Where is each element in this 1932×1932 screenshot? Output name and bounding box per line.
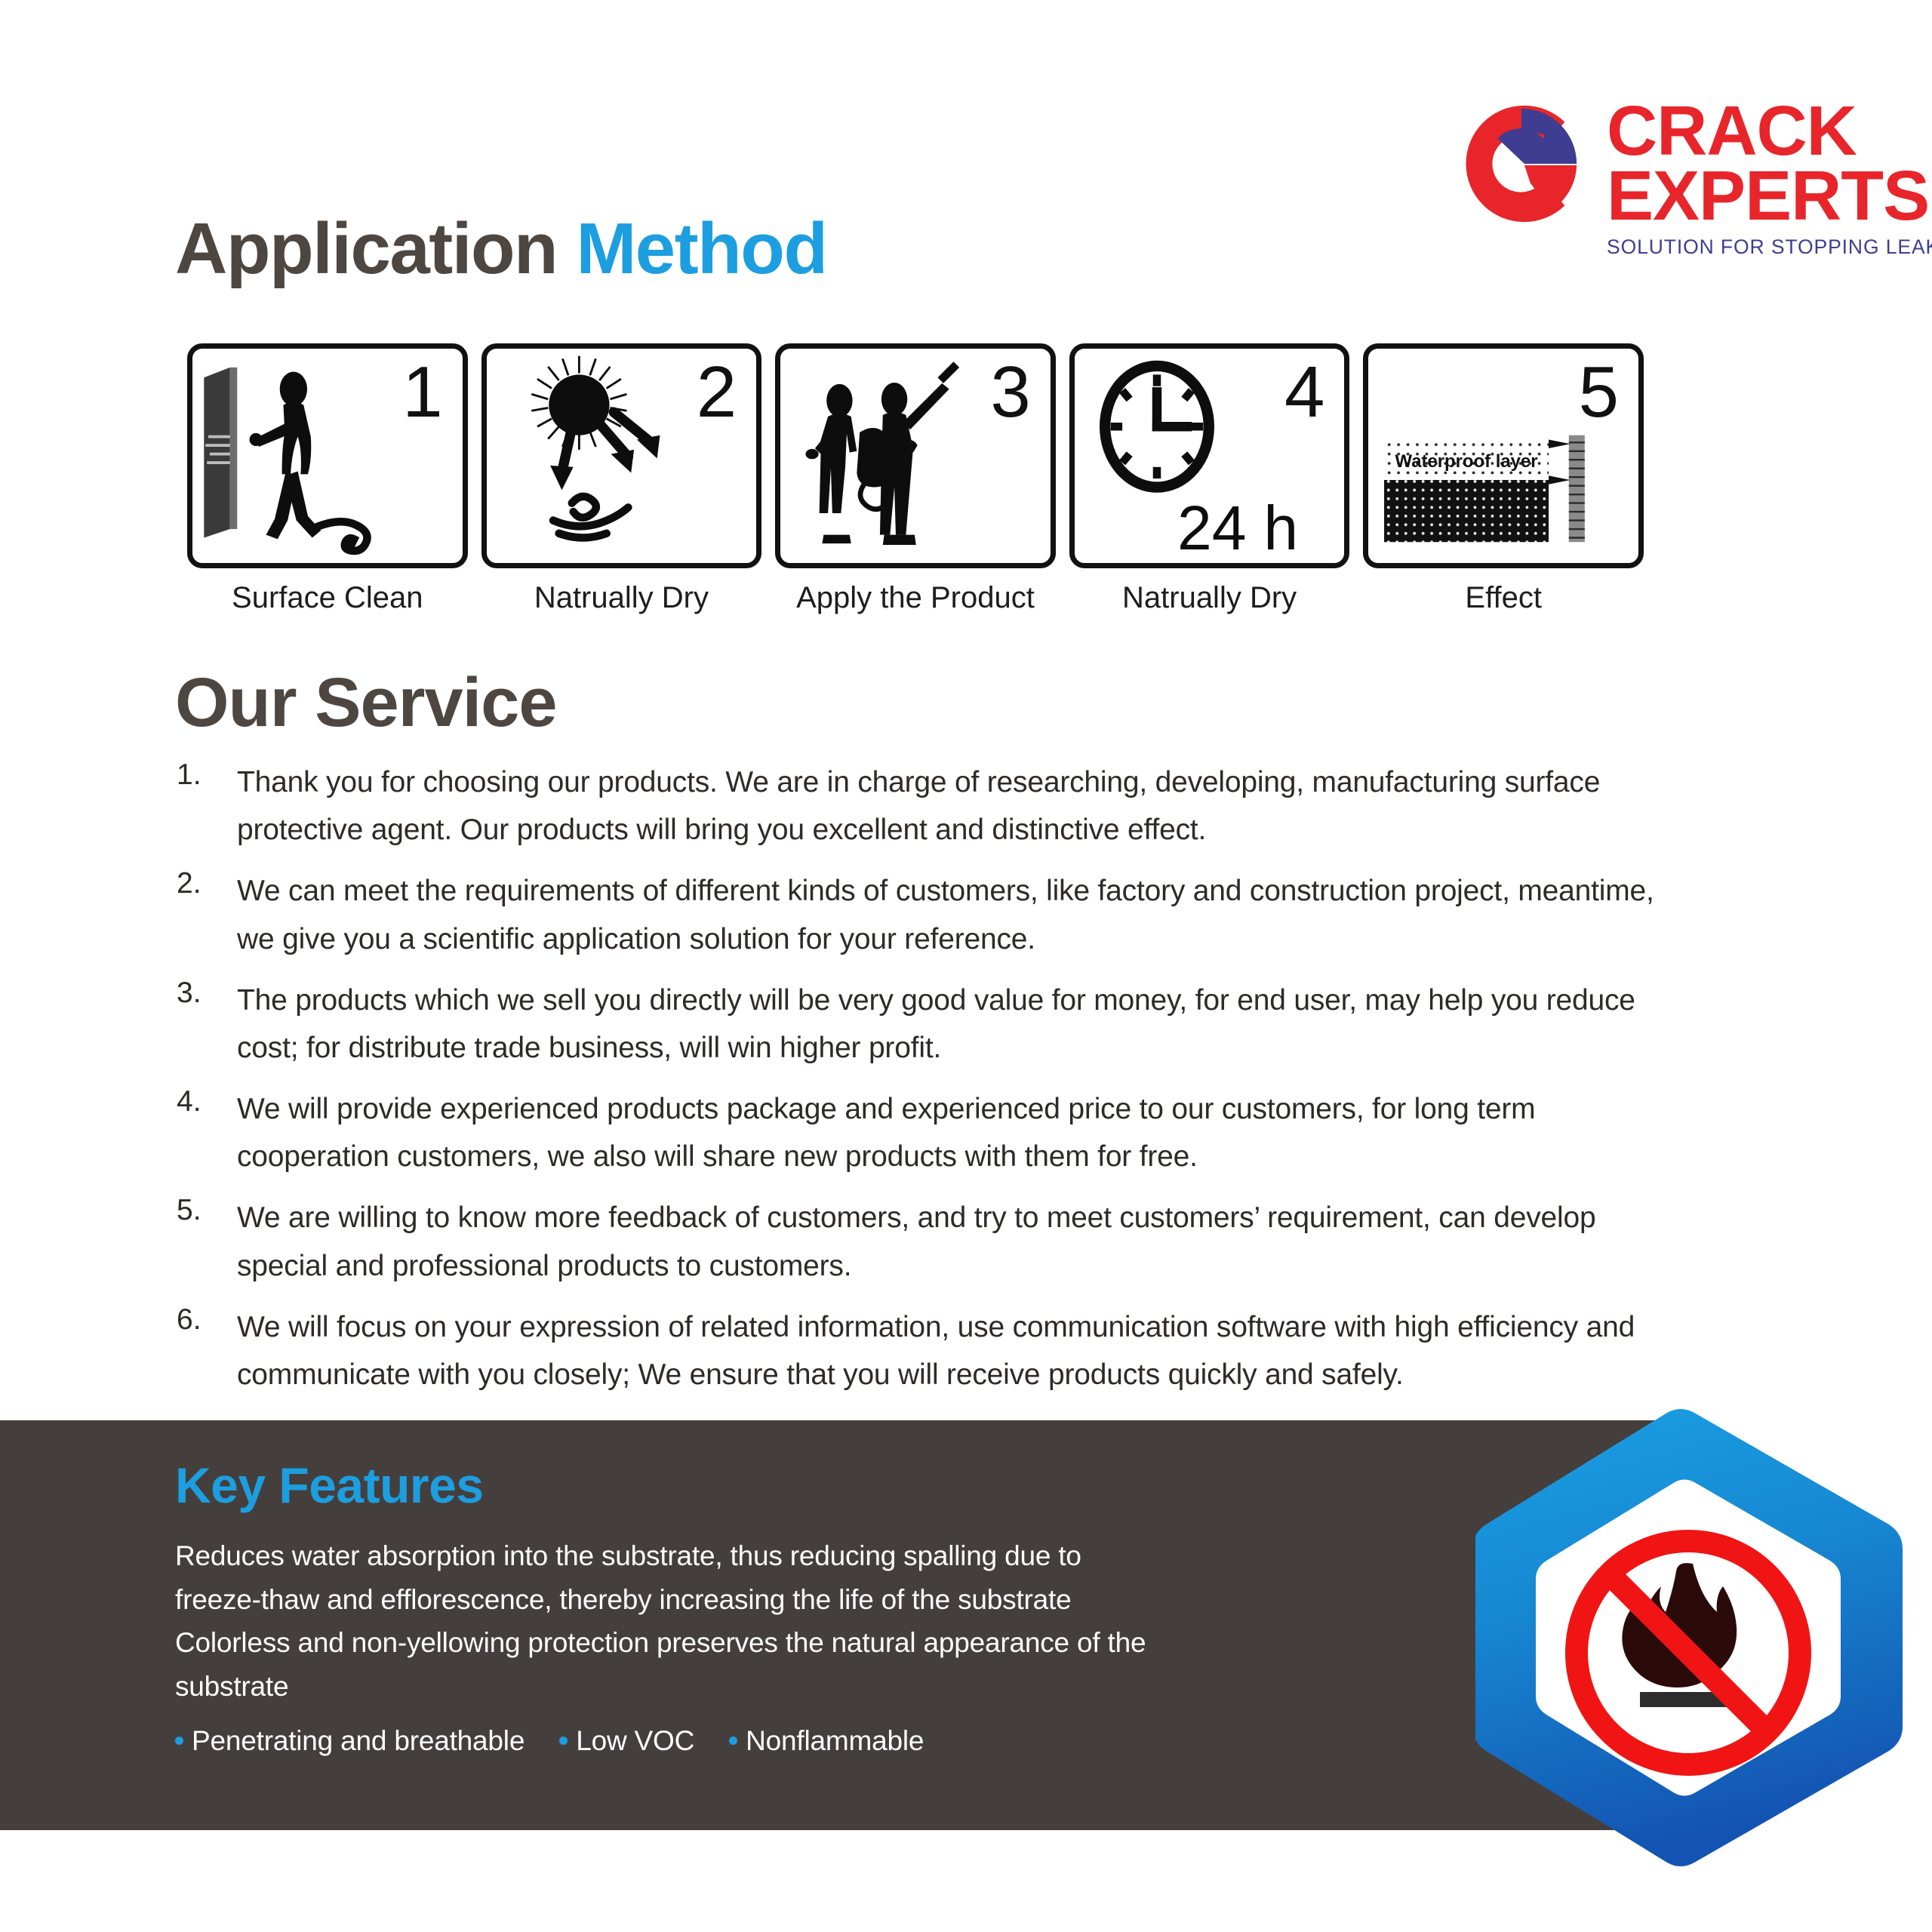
step-2-label: Natrually Dry bbox=[481, 581, 762, 615]
service-list: 1. Thank you for choosing our products. … bbox=[172, 758, 1681, 1412]
step-3: 3 Apply the Product bbox=[775, 343, 1056, 615]
step-4: 24 h 4 Natrually Dry bbox=[1069, 343, 1350, 615]
bullet-dot-icon bbox=[559, 1737, 568, 1745]
list-item: 6. We will focus on your expression of r… bbox=[172, 1303, 1681, 1398]
logo-line-2: EXPERTS bbox=[1607, 163, 1932, 228]
step-5-number: 5 bbox=[1579, 355, 1619, 431]
step-1-label: Surface Clean bbox=[187, 581, 468, 615]
list-item: 3. The products which we sell you direct… bbox=[172, 977, 1681, 1072]
step-1-box: 1 bbox=[187, 343, 468, 568]
logo-tagline: SOLUTION FOR STOPPING LEAKS bbox=[1607, 235, 1932, 259]
list-item: 2. We can meet the requirements of diffe… bbox=[172, 867, 1681, 962]
step-5-box: Waterproof layer 5 bbox=[1363, 343, 1644, 568]
key-features-body: Reduces water absorption into the substr… bbox=[175, 1534, 1156, 1709]
step-5-label: Effect bbox=[1363, 581, 1644, 615]
step-4-extra-text: 24 h bbox=[1177, 494, 1298, 563]
step-4-label: Natrually Dry bbox=[1069, 581, 1350, 615]
step-4-number: 4 bbox=[1284, 355, 1324, 431]
list-item-number: 5. bbox=[172, 1194, 237, 1289]
bullet-dot-icon bbox=[729, 1737, 737, 1745]
application-method-heading: Application Method bbox=[175, 213, 827, 285]
feature-bullet-label: Penetrating and breathable bbox=[192, 1725, 525, 1757]
no-flame-nonflammable-hexagon-badge-icon bbox=[1475, 1404, 1913, 1872]
list-item-text: We can meet the requirements of differen… bbox=[237, 867, 1681, 962]
our-service-heading: Our Service bbox=[175, 668, 557, 737]
brand-logo: CRACK EXPERTS SOLUTION FOR STOPPING LEAK… bbox=[1453, 91, 1864, 241]
feature-bullet-label: Nonflammable bbox=[746, 1725, 924, 1757]
list-item-text: The products which we sell you directly … bbox=[237, 977, 1681, 1072]
step-4-box: 24 h 4 bbox=[1069, 343, 1350, 568]
feature-bullet: Nonflammable bbox=[729, 1725, 924, 1757]
list-item: 1. Thank you for choosing our products. … bbox=[172, 758, 1681, 854]
bullet-dot-icon bbox=[175, 1737, 183, 1745]
key-features-content: Key Features Reduces water absorption in… bbox=[175, 1460, 1156, 1757]
list-item-number: 1. bbox=[172, 758, 237, 854]
step-2-box: 2 bbox=[481, 343, 762, 568]
list-item: 5. We are willing to know more feedback … bbox=[172, 1194, 1681, 1289]
application-steps-row: 1 Surface Clean bbox=[187, 343, 1644, 615]
list-item-number: 6. bbox=[172, 1303, 237, 1398]
logo-line-1: CRACK bbox=[1607, 98, 1932, 163]
list-item-number: 3. bbox=[172, 977, 237, 1072]
list-item-text: We will provide experienced products pac… bbox=[237, 1085, 1681, 1180]
step-1: 1 Surface Clean bbox=[187, 343, 468, 615]
product-sheet-page: CRACK EXPERTS SOLUTION FOR STOPPING LEAK… bbox=[0, 0, 1932, 1932]
feature-bullet: Low VOC bbox=[559, 1725, 694, 1757]
list-item-number: 4. bbox=[172, 1085, 237, 1180]
key-features-bullets: Penetrating and breathable Low VOC Nonfl… bbox=[175, 1725, 1156, 1757]
key-features-title: Key Features bbox=[175, 1460, 1156, 1510]
feature-bullet: Penetrating and breathable bbox=[175, 1725, 525, 1757]
step-3-box: 3 bbox=[775, 343, 1056, 568]
heading-word-application: Application bbox=[175, 208, 557, 289]
list-item-text: Thank you for choosing our products. We … bbox=[237, 758, 1681, 854]
step-1-number: 1 bbox=[402, 355, 442, 431]
list-item-text: We will focus on your expression of rela… bbox=[237, 1303, 1681, 1398]
step-2: 2 Natrually Dry bbox=[481, 343, 762, 615]
step-5-extra-text: Waterproof layer bbox=[1395, 451, 1538, 472]
crack-experts-c-mark-icon bbox=[1453, 97, 1587, 231]
logo-wordmark: CRACK EXPERTS SOLUTION FOR STOPPING LEAK… bbox=[1607, 91, 1932, 259]
feature-bullet-label: Low VOC bbox=[576, 1725, 694, 1757]
step-3-number: 3 bbox=[990, 355, 1030, 431]
list-item-number: 2. bbox=[172, 867, 237, 962]
step-3-label: Apply the Product bbox=[775, 581, 1056, 615]
step-2-number: 2 bbox=[697, 355, 737, 431]
list-item-text: We are willing to know more feedback of … bbox=[237, 1194, 1681, 1289]
list-item: 4. We will provide experienced products … bbox=[172, 1085, 1681, 1180]
heading-word-method: Method bbox=[576, 208, 826, 289]
step-5: Waterproof layer 5 bbox=[1363, 343, 1644, 615]
